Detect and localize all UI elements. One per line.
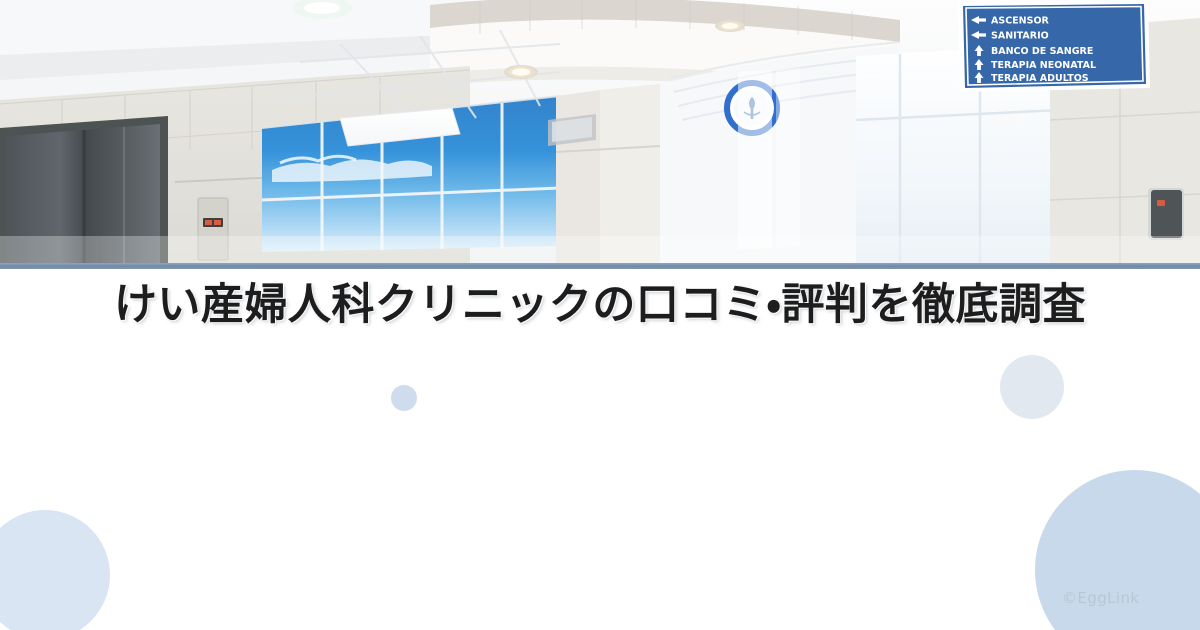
decor-circle-right-upper: [1000, 355, 1064, 419]
hospital-lobby-photo: ASCENSOR SANITARIO BANCO DE SANGRE TERAP…: [0, 0, 1200, 263]
hero-divider: [0, 263, 1200, 269]
page-title-text: けい産婦人科クリニックの口コミ・評判を徹底調査: [114, 278, 1086, 333]
decor-circle-small-left: [391, 385, 417, 411]
decor-circle-bottom-left: [0, 510, 110, 630]
watermark: ©EggLink: [1062, 589, 1139, 607]
ogp-card: ASCENSOR SANITARIO BANCO DE SANGRE TERAP…: [0, 0, 1200, 630]
page-title: けい産婦人科クリニックの口コミ・評判を徹底調査: [0, 278, 1200, 333]
